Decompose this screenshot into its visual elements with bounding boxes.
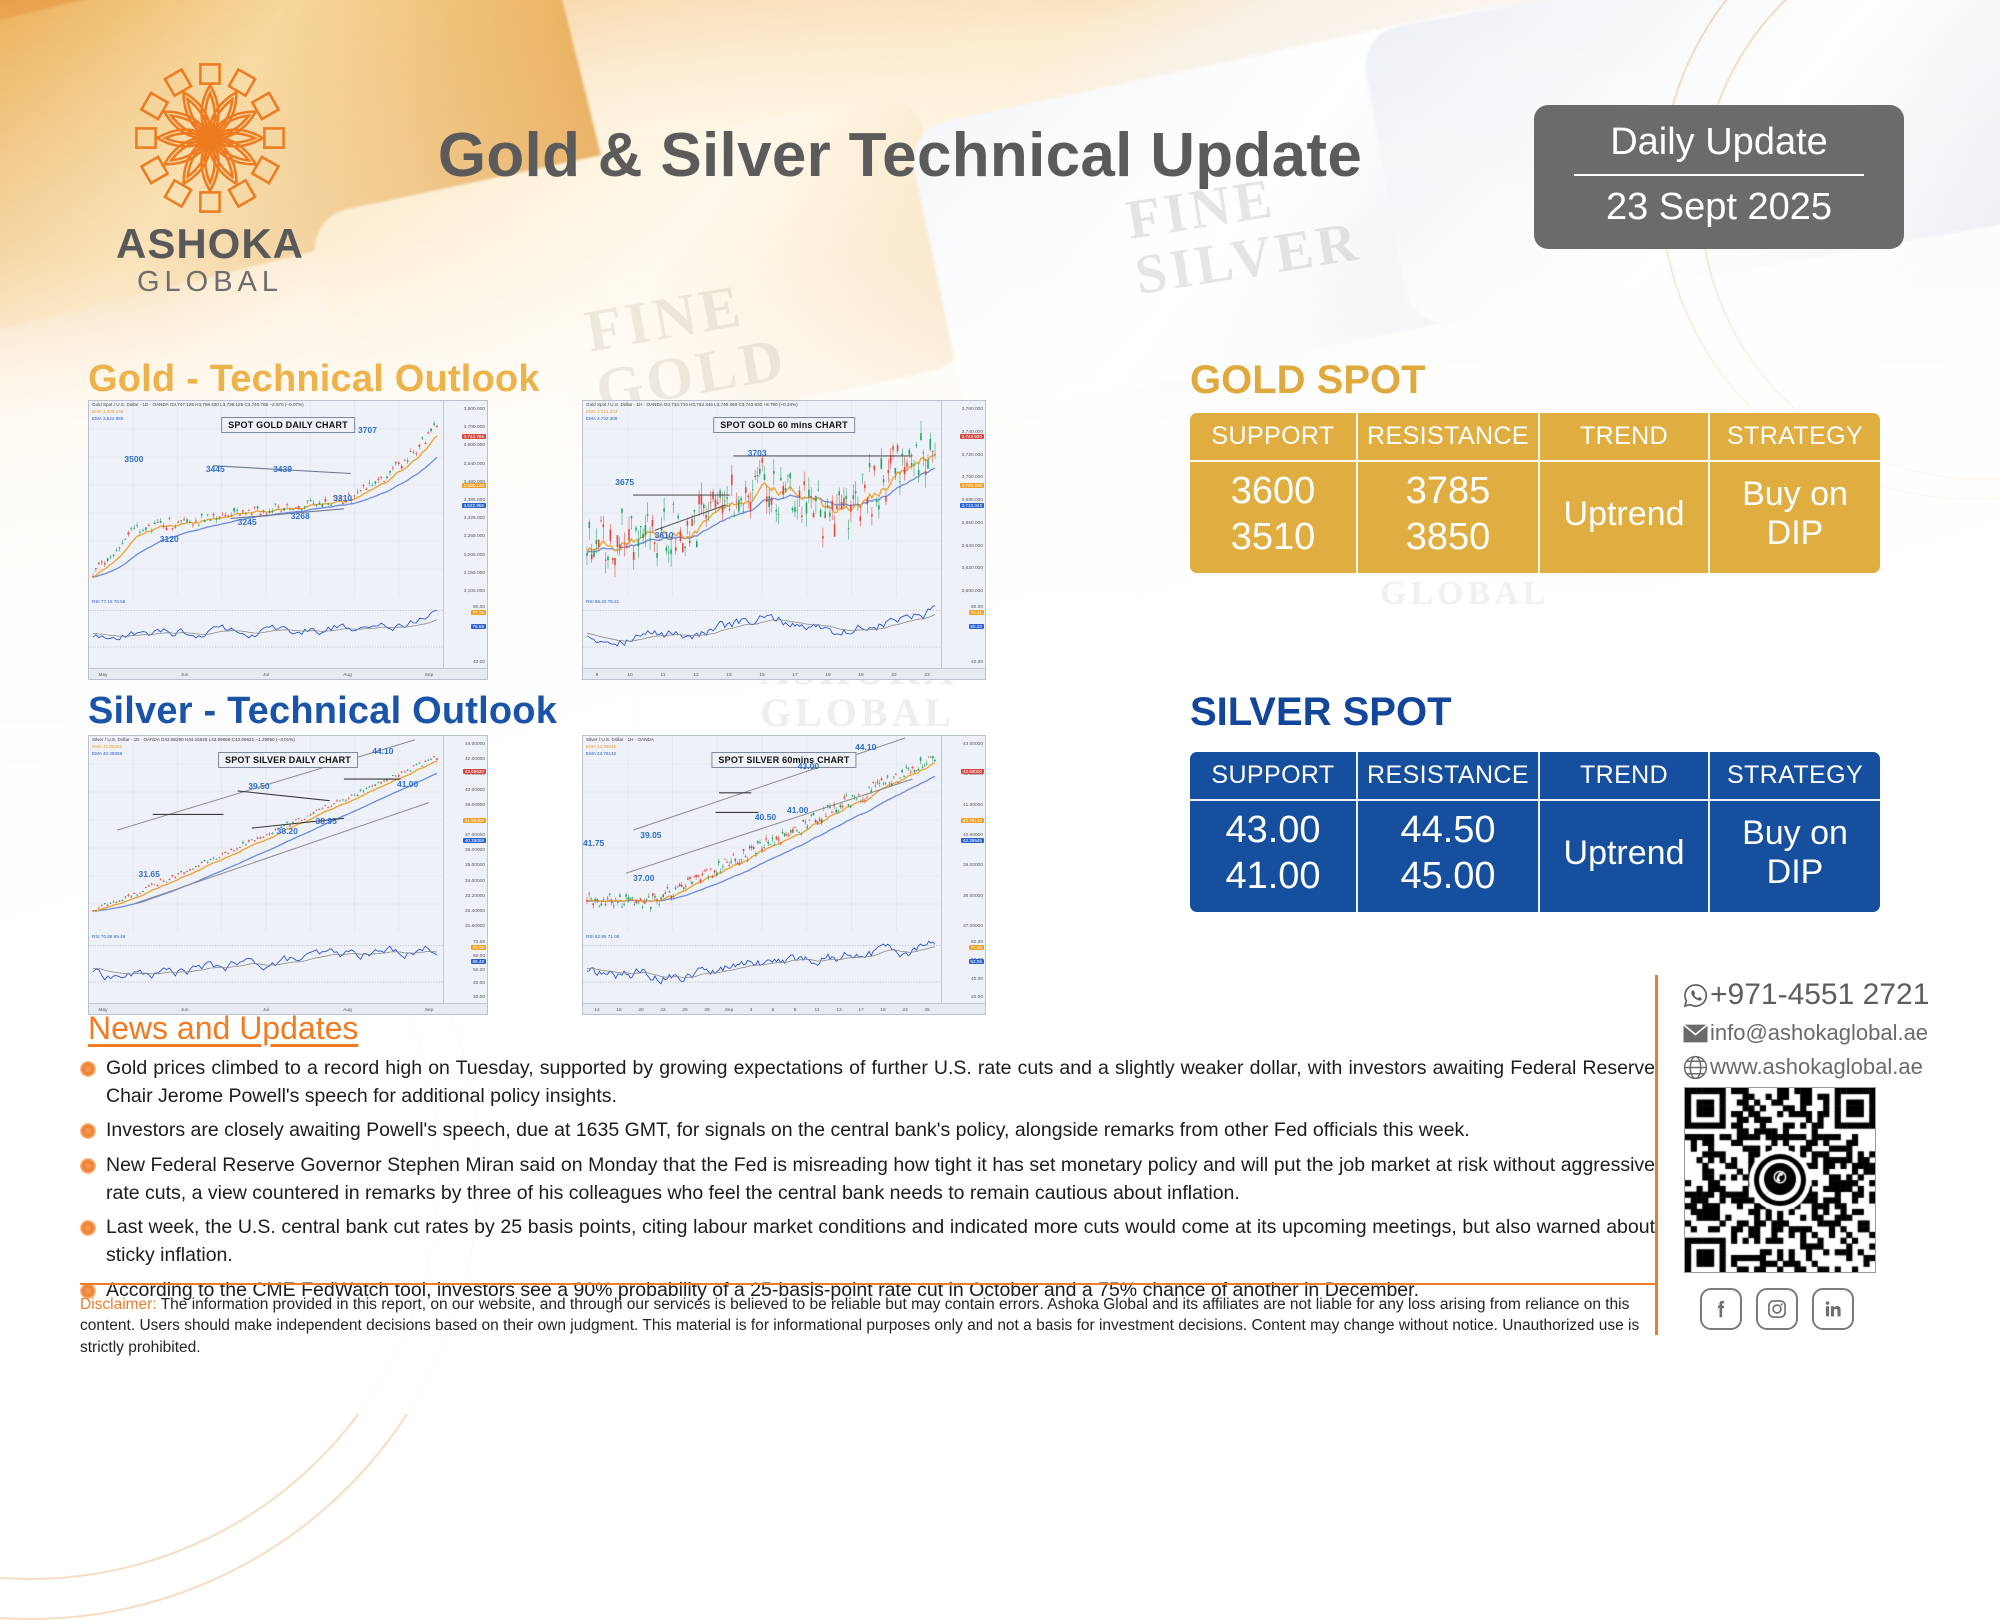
gold-support-1: 3600 — [1194, 468, 1352, 514]
axis-tick-label: 3,760.000 — [962, 407, 983, 412]
silver-trend-cell: Uptrend — [1538, 801, 1708, 912]
silver-support-values: 43.00 41.00 — [1190, 801, 1356, 912]
price-tag-ema-slow: 43.39545 — [961, 838, 984, 843]
silver-resistance-values: 44.50 45.00 — [1356, 801, 1538, 912]
axis-tick-label: 3,600.000 — [464, 443, 485, 448]
news-item-text: Last week, the U.S. central bank cut rat… — [106, 1214, 1655, 1269]
axis-tick-label: 3,720.000 — [962, 453, 983, 458]
linkedin-icon[interactable] — [1812, 1288, 1854, 1330]
rsi-tag-2: 52.95 — [969, 959, 985, 964]
bullet-icon — [80, 1220, 96, 1236]
news-item-text: Gold prices climbed to a record high on … — [106, 1055, 1655, 1110]
price-tag-ema-slow: 40.25069 — [463, 838, 486, 843]
contact-divider — [1655, 975, 1658, 1335]
rsi-tag-1: 70.68 — [471, 945, 487, 950]
contact-panel: +971-4551 2721 info@ashokaglobal.ae www.… — [1680, 978, 1980, 1088]
axis-tick-label: 3,620.000 — [962, 566, 983, 571]
gold-60min-chart[interactable]: SPOT GOLD 60 mins CHARTGold Spot / U.S. … — [582, 400, 986, 680]
price-tag-ema-slow: 3,713.343 — [960, 503, 984, 508]
axis-tick-label: 39.00000 — [465, 803, 485, 808]
chart-level-annotation: 3675 — [615, 477, 634, 487]
news-item: Investors are closely awaiting Powell's … — [80, 1117, 1655, 1145]
bullet-icon — [80, 1061, 96, 1077]
whatsapp-qr-code[interactable] — [1684, 1087, 1876, 1273]
news-item-text: Investors are closely awaiting Powell's … — [106, 1117, 1470, 1145]
silver-strategy-value: Buy on DIP — [1714, 807, 1876, 900]
price-tag-ema-slow: 3,522.955 — [462, 503, 486, 508]
chart-level-annotation: 31.65 — [139, 869, 160, 879]
silver-resistance-1: 44.50 — [1362, 807, 1534, 853]
gold-spot-table: SUPPORT RESISTANCE TREND STRATEGY 3600 3… — [1190, 413, 1880, 573]
chart-rsi-header: RSI 77.16 76.58 — [92, 599, 125, 604]
chart-ema-slow-label: EMA 3,732.308 — [586, 416, 617, 421]
brand-subtitle: GLOBAL — [100, 266, 320, 299]
envelope-icon — [1680, 1024, 1710, 1043]
axis-tick-label: Jun — [181, 673, 189, 678]
chart-price-axis: 3,760.0003,740.0003,720.0003,700.0003,68… — [941, 401, 985, 679]
chart-ema-slow-label: EMA 3,522.955 — [92, 416, 123, 421]
chart-title: SPOT SILVER DAILY CHART — [218, 752, 358, 768]
rsi-tag-1: 76.21 — [969, 610, 985, 615]
axis-tick-label: May — [98, 1008, 107, 1013]
column-header-strategy: STRATEGY — [1708, 413, 1880, 460]
chart-level-annotation: 3707 — [358, 425, 377, 435]
rsi-tick-label: 40.00 — [971, 977, 983, 982]
axis-tick-label: 16 — [616, 1008, 621, 1013]
chart-level-annotation: 43.00 — [798, 761, 819, 771]
axis-tick-label: 3,540.000 — [464, 462, 485, 467]
gold-spot-title: GOLD SPOT — [1190, 358, 1426, 403]
axis-tick-label: 22 — [660, 1008, 665, 1013]
gold-outlook-title: Gold - Technical Outlook — [88, 358, 540, 401]
facebook-icon[interactable] — [1700, 1288, 1742, 1330]
column-header-support: SUPPORT — [1190, 413, 1356, 460]
axis-tick-label: 36.00000 — [465, 848, 485, 853]
chart-level-annotation: 3445 — [206, 464, 225, 474]
silver-daily-chart[interactable]: SPOT SILVER DAILY CHARTSilver / U.S. Dol… — [88, 735, 488, 1015]
bullet-icon — [80, 1123, 96, 1139]
chart-title: SPOT GOLD DAILY CHART — [221, 417, 355, 433]
news-item-text: New Federal Reserve Governor Stephen Mir… — [106, 1152, 1655, 1207]
chart-rsi-header: RSI 65.22 76.21 — [586, 599, 619, 604]
chart-level-annotation: 38.20 — [277, 826, 298, 836]
rsi-tag-2: 65.22 — [969, 624, 985, 629]
chart-price-axis: 3,800.0003,700.0003,600.0003,540.0003,48… — [443, 401, 487, 679]
badge-label: Daily Update — [1556, 121, 1882, 174]
contact-phone: +971-4551 2721 — [1710, 978, 1929, 1012]
axis-tick-label: 18 — [825, 673, 830, 678]
gold-support-values: 3600 3510 — [1190, 462, 1356, 573]
axis-tick-label: 17 — [792, 673, 797, 678]
rsi-tick-label: 50.00 — [473, 968, 485, 973]
rsi-tick-label: 40.00 — [473, 660, 485, 665]
gold-trend-value: Uptrend — [1544, 468, 1704, 561]
chart-time-axis: MayJunJulAugSep — [89, 1003, 487, 1014]
rsi-tag-2: 69.49 — [471, 959, 487, 964]
rsi-tick-label: 20.00 — [971, 995, 983, 1000]
axis-tick-label: Jul — [263, 1008, 269, 1013]
chart-time-axis: 910111215161718192223 — [583, 668, 985, 679]
axis-tick-label: 17 — [858, 1008, 863, 1013]
chart-level-annotation: 44.10 — [372, 746, 393, 756]
axis-tick-label: 3,325.000 — [464, 516, 485, 521]
axis-tick-label: 3,660.000 — [962, 521, 983, 526]
axis-tick-label: 3 — [750, 1008, 753, 1013]
table-header-row: SUPPORT RESISTANCE TREND STRATEGY — [1190, 752, 1880, 801]
column-header-strategy: STRATEGY — [1708, 752, 1880, 799]
chart-level-annotation: 40.50 — [755, 812, 776, 822]
axis-tick-label: 40.00000 — [465, 788, 485, 793]
chart-title: SPOT GOLD 60 mins CHART — [713, 417, 855, 433]
rsi-tag-1: 77.16 — [471, 610, 487, 615]
axis-tick-label: Aug — [343, 673, 352, 678]
chart-level-annotation: 3439 — [273, 464, 292, 474]
news-list: Gold prices climbed to a record high on … — [80, 1055, 1655, 1312]
axis-tick-label: Sep — [725, 1008, 734, 1013]
contact-website-row[interactable]: www.ashokaglobal.ae — [1680, 1054, 1980, 1080]
rsi-tick-label: 40.00 — [473, 981, 485, 986]
chart-price-axis: 43.0000042.0000041.0000040.0000039.00000… — [941, 736, 985, 1014]
axis-tick-label: 23 — [902, 1008, 907, 1013]
rsi-tick-label: 30.00 — [473, 995, 485, 1000]
column-header-support: SUPPORT — [1190, 752, 1356, 799]
news-item: New Federal Reserve Governor Stephen Mir… — [80, 1152, 1655, 1207]
axis-tick-label: 32.40000 — [465, 909, 485, 914]
axis-tick-label: 39.00000 — [963, 863, 983, 868]
price-tag-last: 43.68000 — [961, 769, 984, 774]
axis-tick-label: 13 — [836, 1008, 841, 1013]
price-tag-ema-fast: 3,608.148 — [462, 483, 486, 488]
silver-trend-value: Uptrend — [1544, 807, 1704, 900]
disclaimer-label: Disclaimer: — [80, 1296, 157, 1313]
axis-tick-label: 3,265.000 — [464, 534, 485, 539]
gold-support-2: 3510 — [1194, 514, 1352, 560]
table-row: 43.00 41.00 44.50 45.00 Uptrend Buy on D… — [1190, 801, 1880, 912]
chart-level-annotation: 41.00 — [397, 779, 418, 789]
axis-tick-label: 28 — [704, 1008, 709, 1013]
chart-level-annotation: 3500 — [124, 454, 143, 464]
axis-tick-label: 38.00000 — [963, 894, 983, 899]
axis-tick-label: 35.00000 — [465, 863, 485, 868]
price-tag-last: 43.69620 — [463, 769, 486, 774]
rsi-tick-label: 60.00 — [473, 954, 485, 959]
table-row: 3600 3510 3785 3850 Uptrend Buy on DIP — [1190, 462, 1880, 573]
contact-email: info@ashokaglobal.ae — [1710, 1020, 1928, 1046]
globe-icon — [1680, 1055, 1710, 1080]
gold-strategy-cell: Buy on DIP — [1708, 462, 1880, 573]
axis-tick-label: 23 — [924, 673, 929, 678]
axis-tick-label: 3,700.000 — [962, 475, 983, 480]
axis-tick-label: 9 — [596, 673, 599, 678]
axis-tick-label: 20 — [638, 1008, 643, 1013]
price-tag-last: 3,743.920 — [960, 434, 984, 439]
social-links — [1700, 1288, 1854, 1330]
axis-tick-label: 19 — [880, 1008, 885, 1013]
silver-strategy-cell: Buy on DIP — [1708, 801, 1880, 912]
gold-strategy-value: Buy on DIP — [1714, 468, 1876, 561]
axis-tick-label: 11 — [815, 1008, 820, 1013]
chart-instrument-header: Gold Spot / U.S. Dollar · 1D · OANDA O3,… — [92, 402, 304, 407]
price-tag-ema-fast: 43.76142 — [961, 818, 984, 823]
brand-logo: ASHOKA GLOBAL — [100, 58, 320, 299]
disclaimer-body: The information provided in this report,… — [80, 1296, 1639, 1356]
chart-level-annotation: 39.50 — [248, 781, 269, 791]
mandala-flower-icon — [130, 58, 290, 218]
axis-tick-label: 3,105.000 — [464, 589, 485, 594]
gold-resistance-values: 3785 3850 — [1356, 462, 1538, 573]
silver-spot-title: SILVER SPOT — [1190, 690, 1452, 735]
chart-ema-fast-label: EMA 43.39545 — [586, 744, 616, 749]
chart-level-annotation: 44.10 — [855, 742, 876, 752]
axis-tick-label: 10 — [627, 673, 632, 678]
chart-ema-slow-label: EMA 43.76142 — [586, 751, 616, 756]
axis-tick-label: 43.00000 — [963, 742, 983, 747]
axis-tick-label: 44.00000 — [465, 742, 485, 747]
axis-tick-label: Jul — [263, 673, 269, 678]
chart-price-axis: 44.0000042.0000041.0000040.0000039.00000… — [443, 736, 487, 1014]
axis-tick-label: May — [98, 673, 107, 678]
chart-instrument-header: Silver / U.S. Dollar · 1D · OANDA O43.66… — [92, 737, 295, 742]
chart-instrument-header: Silver / U.S. Dollar · 1H · OANDA — [586, 737, 654, 742]
axis-tick-label: Sep — [425, 673, 434, 678]
chart-level-annotation: 3703 — [748, 448, 767, 458]
contact-email-row[interactable]: info@ashokaglobal.ae — [1680, 1020, 1980, 1046]
axis-tick-label: 14 — [594, 1008, 599, 1013]
chart-time-axis: MayJunJulAugSep — [89, 668, 487, 679]
silver-outlook-title: Silver - Technical Outlook — [88, 690, 557, 733]
axis-tick-label: 37.00000 — [963, 924, 983, 929]
axis-tick-label: 16 — [759, 673, 764, 678]
chart-level-annotation: 38.95 — [316, 816, 337, 826]
chart-time-axis: 141620222628Sep359111317192325 — [583, 1003, 985, 1014]
silver-spot-table: SUPPORT RESISTANCE TREND STRATEGY 43.00 … — [1190, 752, 1880, 912]
price-tag-last: 3,743.785 — [462, 434, 486, 439]
axis-tick-label: 3,640.000 — [962, 544, 983, 549]
silver-resistance-2: 45.00 — [1362, 853, 1534, 899]
rsi-tick-label: 40.00 — [971, 660, 983, 665]
chart-level-annotation: 3310 — [333, 493, 352, 503]
axis-tick-label: 3,155.000 — [464, 571, 485, 576]
axis-tick-label: 9 — [794, 1008, 797, 1013]
badge-date: 23 Sept 2025 — [1556, 186, 1882, 229]
axis-tick-label: 19 — [858, 673, 863, 678]
chart-level-annotation: 3245 — [238, 517, 257, 527]
axis-tick-label: 41.00000 — [963, 803, 983, 808]
axis-tick-label: 34.00000 — [465, 879, 485, 884]
axis-tick-label: Jun — [181, 1008, 189, 1013]
contact-website: www.ashokaglobal.ae — [1710, 1054, 1923, 1080]
chart-ema-fast-label: EMA 3,713.343 — [586, 409, 617, 414]
column-header-trend: TREND — [1538, 752, 1708, 799]
chart-ema-slow-label: EMA 40.25069 — [92, 751, 122, 756]
axis-tick-label: Aug — [343, 1008, 352, 1013]
rsi-tag-2: 76.58 — [471, 624, 487, 629]
axis-tick-label: 42.00000 — [465, 757, 485, 762]
axis-tick-label: 25 — [924, 1008, 929, 1013]
axis-tick-label: 33.20000 — [465, 894, 485, 899]
chart-title: SPOT SILVER 60mins CHART — [711, 752, 856, 768]
chart-instrument-header: Gold Spot / U.S. Dollar · 1H · OANDA O3,… — [586, 402, 798, 407]
disclaimer-divider — [80, 1283, 1655, 1285]
chart-level-annotation: 39.05 — [640, 830, 661, 840]
instagram-icon[interactable] — [1756, 1288, 1798, 1330]
chart-ema-fast-label: EMA 41.96362 — [92, 744, 122, 749]
axis-tick-label: 3,700.000 — [464, 425, 485, 430]
news-item: Gold prices climbed to a record high on … — [80, 1055, 1655, 1110]
axis-tick-label: 31.60000 — [465, 924, 485, 929]
gold-resistance-2: 3850 — [1362, 514, 1534, 560]
price-tag-ema-fast: 3,732.208 — [960, 483, 984, 488]
axis-tick-label: 3,800.000 — [464, 407, 485, 412]
gold-daily-chart[interactable]: SPOT GOLD DAILY CHARTGold Spot / U.S. Do… — [88, 400, 488, 680]
axis-tick-label: 3,600.000 — [962, 589, 983, 594]
column-header-trend: TREND — [1538, 413, 1708, 460]
chart-level-annotation: 37.00 — [633, 873, 654, 883]
chart-rsi-header: RSI 52.95 71.08 — [586, 934, 619, 939]
axis-tick-label: 11 — [661, 673, 666, 678]
daily-update-badge: Daily Update 23 Sept 2025 — [1534, 105, 1904, 249]
silver-support-1: 43.00 — [1194, 807, 1352, 853]
chart-level-annotation: 3120 — [160, 534, 179, 544]
chart-rsi-header: RSI 70.68 69.49 — [92, 934, 125, 939]
chart-level-annotation: 41.00 — [787, 805, 808, 815]
axis-tick-label: 22 — [891, 673, 896, 678]
axis-tick-label: 5 — [772, 1008, 775, 1013]
silver-60min-chart[interactable]: SPOT SILVER 60mins CHARTSilver / U.S. Do… — [582, 735, 986, 1015]
price-tag-ema-fast: 41.98362 — [463, 818, 486, 823]
axis-tick-label: 3,205.000 — [464, 553, 485, 558]
chart-ema-fast-label: EMA 3,608.148 — [92, 409, 123, 414]
disclaimer: Disclaimer: The information provided in … — [80, 1294, 1660, 1358]
news-item: Last week, the U.S. central bank cut rat… — [80, 1214, 1655, 1269]
axis-tick-label: Sep — [425, 1008, 434, 1013]
news-section-title: News and Updates — [88, 1010, 358, 1047]
page-title: Gold & Silver Technical Update — [330, 120, 1470, 191]
axis-tick-label: 26 — [682, 1008, 687, 1013]
brand-name: ASHOKA — [100, 222, 320, 266]
contact-phone-row[interactable]: +971-4551 2721 — [1680, 978, 1980, 1012]
table-header-row: SUPPORT RESISTANCE TREND STRATEGY — [1190, 413, 1880, 462]
column-header-resistance: RESISTANCE — [1356, 413, 1538, 460]
axis-tick-label: 12 — [693, 673, 698, 678]
gold-trend-cell: Uptrend — [1538, 462, 1708, 573]
rsi-tag-1: 71.08 — [969, 945, 985, 950]
whatsapp-icon — [1680, 982, 1710, 1009]
badge-divider — [1574, 174, 1864, 176]
chart-level-annotation: 41.75 — [583, 838, 604, 848]
bullet-icon — [80, 1158, 96, 1174]
chart-level-annotation: 3268 — [291, 511, 310, 521]
column-header-resistance: RESISTANCE — [1356, 752, 1538, 799]
chart-level-annotation: 3610 — [655, 530, 674, 540]
axis-tick-label: 15 — [726, 673, 731, 678]
gold-resistance-1: 3785 — [1362, 468, 1534, 514]
silver-support-2: 41.00 — [1194, 853, 1352, 899]
